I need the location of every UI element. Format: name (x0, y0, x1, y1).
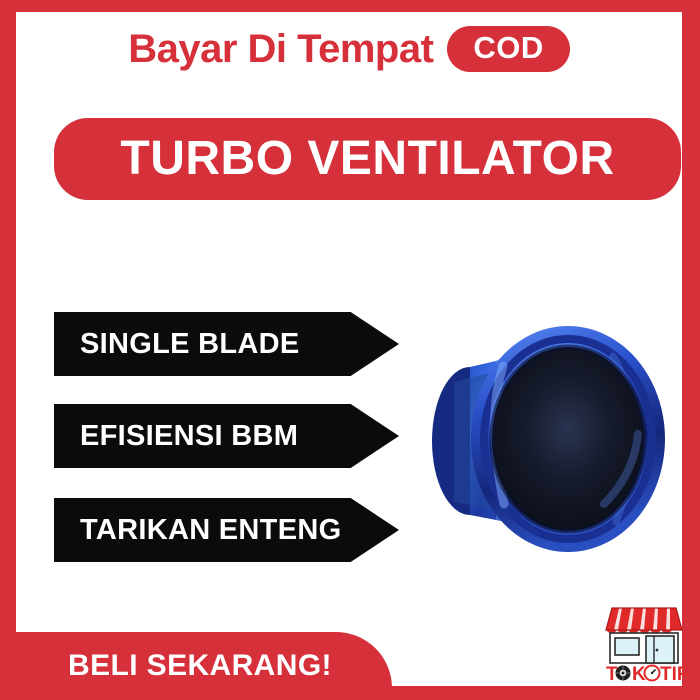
header-row: Bayar Di Tempat COD (16, 26, 682, 72)
ad-frame: Bayar Di Tempat COD TURBO VENTILATOR SIN… (0, 0, 700, 700)
cta-label: BELI SEKARANG! (68, 651, 332, 681)
feature-label: TARIKAN ENTENG (80, 516, 341, 545)
awning-icon (606, 608, 682, 634)
storefront-icon (610, 633, 678, 663)
feature-banner-efisiensi-bbm: EFISIENSI BBM (54, 404, 399, 468)
product-title-box: TURBO VENTILATOR (54, 118, 681, 200)
feature-label: EFISIENSI BBM (80, 422, 298, 451)
feature-banner-tarikan-enteng: TARIKAN ENTENG (54, 498, 399, 562)
tire-icon (616, 666, 631, 681)
svg-text:TIF: TIF (660, 664, 689, 685)
product-title: TURBO VENTILATOR (120, 135, 614, 183)
cta-band[interactable]: BELI SEKARANG! (0, 632, 392, 700)
feature-label: SINGLE BLADE (80, 330, 300, 359)
payment-label: Bayar Di Tempat (128, 29, 433, 69)
cod-badge: COD (447, 26, 569, 72)
gauge-icon (645, 666, 660, 681)
product-photo-turbo-ventilator (408, 308, 673, 573)
logo-wordmark: T K TIF (606, 664, 689, 685)
ad-content-area: Bayar Di Tempat COD TURBO VENTILATOR SIN… (16, 12, 682, 686)
feature-banner-single-blade: SINGLE BLADE (54, 312, 399, 376)
shop-logo-tokotif: T K TIF (598, 600, 690, 688)
